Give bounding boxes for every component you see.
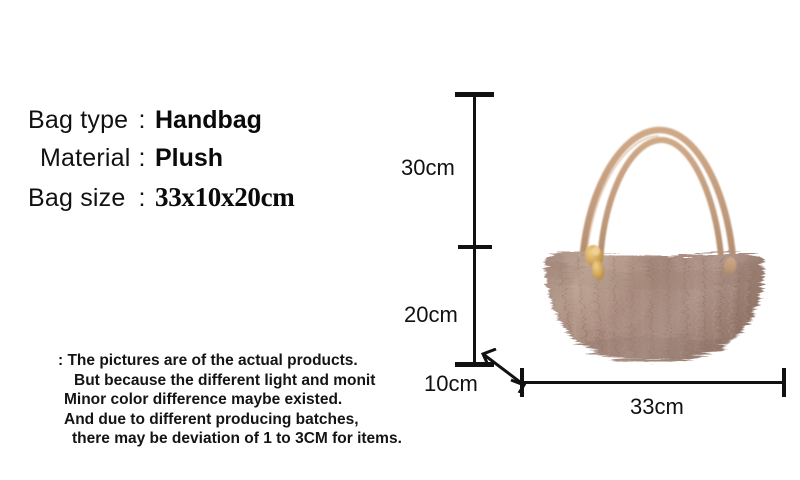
product-photo-plush-handbag: [508, 80, 798, 372]
handbag-body: [530, 250, 780, 372]
product-detail-image: Bag type : Handbag Material : Plush Bag …: [0, 0, 800, 480]
dimension-label-height-lower: 20cm: [404, 302, 458, 328]
dimension-label-width: 33cm: [630, 394, 684, 420]
dimension-label-depth: 10cm: [424, 371, 478, 397]
vertical-ruler-mid-tick: [458, 245, 492, 249]
vertical-ruler-line: [473, 93, 476, 365]
horizontal-ruler-line: [521, 381, 784, 384]
horizontal-ruler-right-cap: [782, 368, 786, 397]
dimension-label-height-upper: 30cm: [401, 155, 455, 181]
